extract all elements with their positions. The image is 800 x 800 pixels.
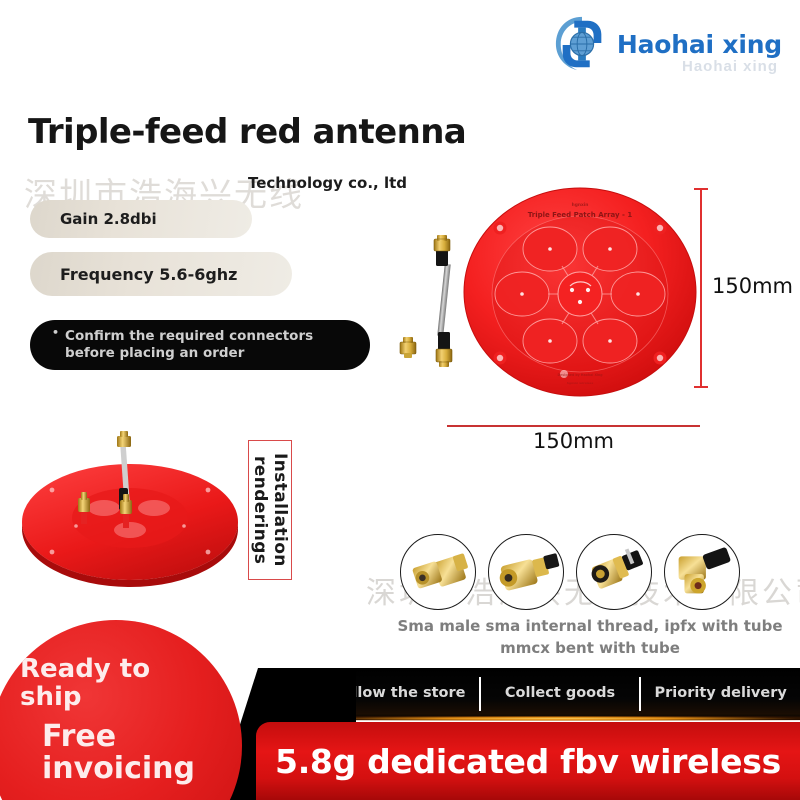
page-title: Triple-feed red antenna <box>28 112 466 152</box>
sma-internal-thread-connector-icon <box>489 535 563 609</box>
brand-name-ghost: Haohai xing <box>682 58 778 75</box>
spec-frequency-label: Frequency 5.6-6ghz <box>60 265 238 284</box>
service-promise-bar: Follow the store Collect goods Priority … <box>320 668 800 720</box>
sma-pigtail-illustration <box>398 228 468 373</box>
dimension-label-vertical: 150mm <box>712 274 793 298</box>
bottom-banner-text: 5.8g dedicated fbv wireless <box>275 742 781 781</box>
installation-rendering-tag: Installation renderings <box>248 440 292 580</box>
dimension-label-horizontal: 150mm <box>447 429 700 453</box>
ready-to-ship-badge: Ready to ship Free invoicing <box>0 620 242 800</box>
pcb-subtitle-text: hgnxin <box>572 202 589 208</box>
spec-gain-label: Gain 2.8dbi <box>60 210 157 228</box>
ship-badge-content: Ready to ship Free invoicing <box>20 656 210 786</box>
connector-caption: Sma male sma internal thread, ipfx with … <box>388 616 792 660</box>
spec-pill-frequency: Frequency 5.6-6ghz <box>30 252 292 296</box>
order-note-pill: • Confirm the required connectors before… <box>30 320 370 370</box>
installation-rendering-photo <box>12 430 260 590</box>
dimension-line-horizontal <box>447 425 700 427</box>
dimension-line-vertical <box>700 188 702 388</box>
bottom-red-banner: 5.8g dedicated fbv wireless <box>256 722 800 800</box>
antenna-disc-illustration: hgnxin Triple Feed Patch Array - 1 Desig… <box>462 186 698 398</box>
connector-thumbnail-row <box>400 532 740 612</box>
mmcx-bent-with-tube-connector-icon <box>665 535 739 609</box>
product-advertisement-page: 深圳市浩海兴无线 深圳市浩海兴无线技术有限公司 Haohai xing Haoh… <box>0 0 800 800</box>
antenna-product-photo: hgnxin Triple Feed Patch Array - 1 Desig… <box>462 186 698 398</box>
ipfx-with-tube-connector-icon <box>577 535 651 609</box>
ship-badge-line2: Free invoicing <box>20 721 210 786</box>
pigtail-cable-photo <box>398 228 468 373</box>
connector-caption-line2: mmcx bent with tube <box>388 638 792 660</box>
connector-thumb-sma-internal-thread[interactable] <box>488 534 564 610</box>
order-note-label: Confirm the required connectors before p… <box>65 328 354 363</box>
connector-caption-line1: Sma male sma internal thread, ipfx with … <box>388 616 792 638</box>
connector-thumb-sma-male[interactable] <box>400 534 476 610</box>
svg-text:hgnxin wireless: hgnxin wireless <box>567 381 594 385</box>
pcb-footer-text: Designed by Haohai Xing <box>557 373 603 377</box>
installation-rendering-label: Installation renderings <box>250 441 290 579</box>
dimension-cap-top <box>694 188 708 190</box>
connector-thumb-mmcx-bent-with-tube[interactable] <box>664 534 740 610</box>
antenna-installed-illustration <box>12 430 260 590</box>
spec-pill-gain: Gain 2.8dbi <box>30 200 252 238</box>
ship-badge-line1: Ready to ship <box>20 656 210 711</box>
service-item-collect-goods[interactable]: Collect goods <box>481 685 640 703</box>
company-subtitle: Technology co., ltd <box>248 174 407 192</box>
brand-name: Haohai xing <box>617 30 782 59</box>
pcb-title-text: Triple Feed Patch Array - 1 <box>528 211 633 219</box>
bullet-icon: • <box>52 326 59 340</box>
connector-thumb-ipfx-with-tube[interactable] <box>576 534 652 610</box>
service-item-priority-delivery[interactable]: Priority delivery <box>641 685 800 703</box>
sma-male-connector-icon <box>401 535 475 609</box>
service-bar-glow <box>320 716 800 721</box>
dimension-cap-bottom <box>694 386 708 388</box>
globe-h-logo-icon <box>553 14 611 74</box>
